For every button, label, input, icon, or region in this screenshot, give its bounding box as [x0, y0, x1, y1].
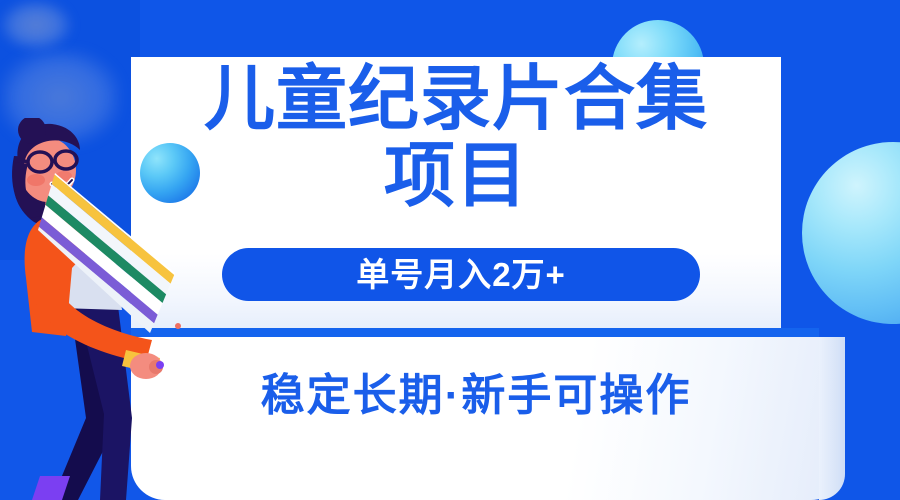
divider-bar [131, 328, 819, 337]
promo-banner: 儿童纪录片合集 项目 单号月入2万+ 稳定长期·新手可操作 [0, 0, 900, 500]
ring [156, 361, 164, 369]
income-badge: 单号月入2万+ [222, 248, 700, 301]
cheek-left [27, 174, 45, 186]
woman-carrying-books-illustration [0, 118, 230, 500]
sphere-small-shadow [0, 0, 72, 50]
income-badge-label: 单号月入2万+ [356, 258, 566, 291]
subtitle-text: 稳定长期·新手可操作 [131, 372, 821, 420]
illustration-svg [0, 118, 230, 500]
detail-dot [175, 323, 181, 329]
subtitle-card-edge [819, 337, 845, 500]
